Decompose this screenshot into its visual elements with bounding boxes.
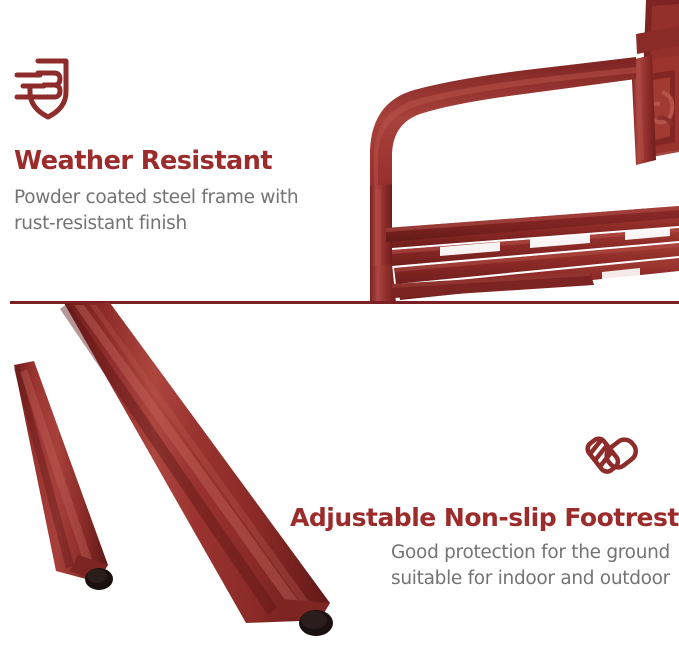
adjustable-foot-screw-icon <box>290 424 670 491</box>
feature-description-line: Powder coated steel frame with <box>14 185 334 211</box>
shield-wind-icon <box>14 56 334 122</box>
leg-secondary <box>14 361 113 590</box>
feature-title: Adjustable Non-slip Footrest <box>290 503 670 532</box>
feature-description-line: suitable for indoor and outdoor <box>290 566 670 592</box>
feature-adjustable-footrest: Adjustable Non-slip Footrest Good protec… <box>290 424 670 593</box>
feature-description: Good protection for the ground suitable … <box>290 540 670 593</box>
bench-product-photo <box>340 0 679 303</box>
feature-description-line: rust-resistant finish <box>14 211 334 237</box>
feature-weather-resistant: Weather Resistant Powder coated steel fr… <box>14 56 334 238</box>
feature-description: Powder coated steel frame with rust-resi… <box>14 185 334 238</box>
infographic-root: Weather Resistant Powder coated steel fr… <box>0 0 679 645</box>
feature-description-line: Good protection for the ground <box>290 540 670 566</box>
feature-title: Weather Resistant <box>14 146 334 176</box>
front-leg <box>370 264 396 303</box>
